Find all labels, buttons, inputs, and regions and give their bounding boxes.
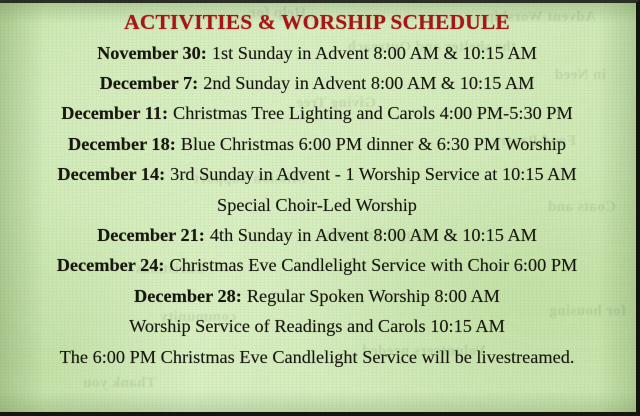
schedule-line-description: The 6:00 PM Christmas Eve Candlelight Se…	[60, 347, 575, 367]
schedule-line-date: November 30:	[97, 43, 207, 63]
schedule-line-date: December 28:	[134, 286, 242, 306]
schedule-line-description: 2nd Sunday in Advent 8:00 AM & 10:15 AM	[203, 73, 534, 93]
schedule-line-description: Special Choir-Led Worship	[217, 195, 417, 215]
schedule-line: December 7:2nd Sunday in Advent 8:00 AM …	[12, 68, 622, 98]
schedule-line-date: December 24:	[57, 255, 165, 275]
schedule-line: December 18:Blue Christmas 6:00 PM dinne…	[12, 129, 622, 159]
schedule-line: Worship Service of Readings and Carols 1…	[12, 311, 622, 341]
schedule-line: December 14:3rd Sunday in Advent - 1 Wor…	[12, 159, 622, 189]
schedule-line-description: 3rd Sunday in Advent - 1 Worship Service…	[170, 164, 576, 184]
schedule-line: Special Choir-Led Worship	[12, 190, 622, 220]
schedule-line: The 6:00 PM Christmas Eve Candlelight Se…	[12, 342, 622, 372]
scanned-bulletin-page: Advent WorshipHelp forthe shelter and Ou…	[0, 0, 640, 416]
schedule-line: December 24:Christmas Eve Candlelight Se…	[12, 250, 622, 280]
schedule-line-date: December 18:	[68, 134, 176, 154]
schedule-line-description: Christmas Eve Candlelight Service with C…	[170, 255, 578, 275]
page-title: ACTIVITIES & WORSHIP SCHEDULE	[12, 12, 622, 34]
schedule-line-description: Christmas Tree Lighting and Carols 4:00 …	[173, 103, 573, 123]
schedule-line-date: December 21:	[97, 225, 205, 245]
schedule-line: December 11:Christmas Tree Lighting and …	[12, 98, 622, 128]
schedule-line: December 28:Regular Spoken Worship 8:00 …	[12, 281, 622, 311]
schedule-line-description: 1st Sunday in Advent 8:00 AM & 10:15 AM	[212, 43, 537, 63]
schedule-line-description: Worship Service of Readings and Carols 1…	[129, 316, 505, 336]
bulletin-content: ACTIVITIES & WORSHIP SCHEDULE November 3…	[0, 3, 636, 412]
schedule-line: November 30:1st Sunday in Advent 8:00 AM…	[12, 38, 622, 68]
schedule-line-description: Regular Spoken Worship 8:00 AM	[247, 286, 500, 306]
schedule-line-date: December 7:	[100, 73, 199, 93]
schedule-line-date: December 11:	[61, 103, 168, 123]
schedule-list: November 30:1st Sunday in Advent 8:00 AM…	[12, 38, 622, 372]
schedule-line-description: 4th Sunday in Advent 8:00 AM & 10:15 AM	[210, 225, 537, 245]
schedule-line-date: December 14:	[57, 164, 165, 184]
schedule-line: December 21:4th Sunday in Advent 8:00 AM…	[12, 220, 622, 250]
schedule-line-description: Blue Christmas 6:00 PM dinner & 6:30 PM …	[181, 134, 566, 154]
